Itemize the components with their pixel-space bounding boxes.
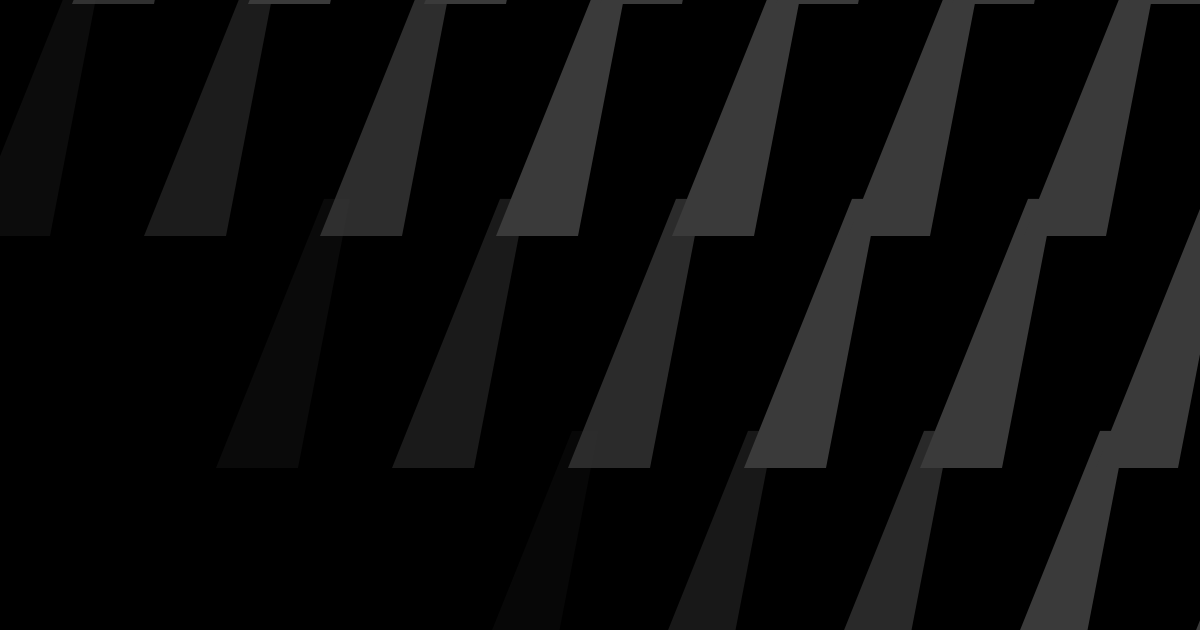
- social-share-card: Главные новости. Теннис Бенуа Пэр: &laqu…: [0, 0, 1200, 630]
- category-kicker: Главные новости. Теннис: [70, 79, 353, 109]
- headline-title: Бенуа Пэр: &laquo;С Ллодра больше не раз…: [68, 152, 1058, 284]
